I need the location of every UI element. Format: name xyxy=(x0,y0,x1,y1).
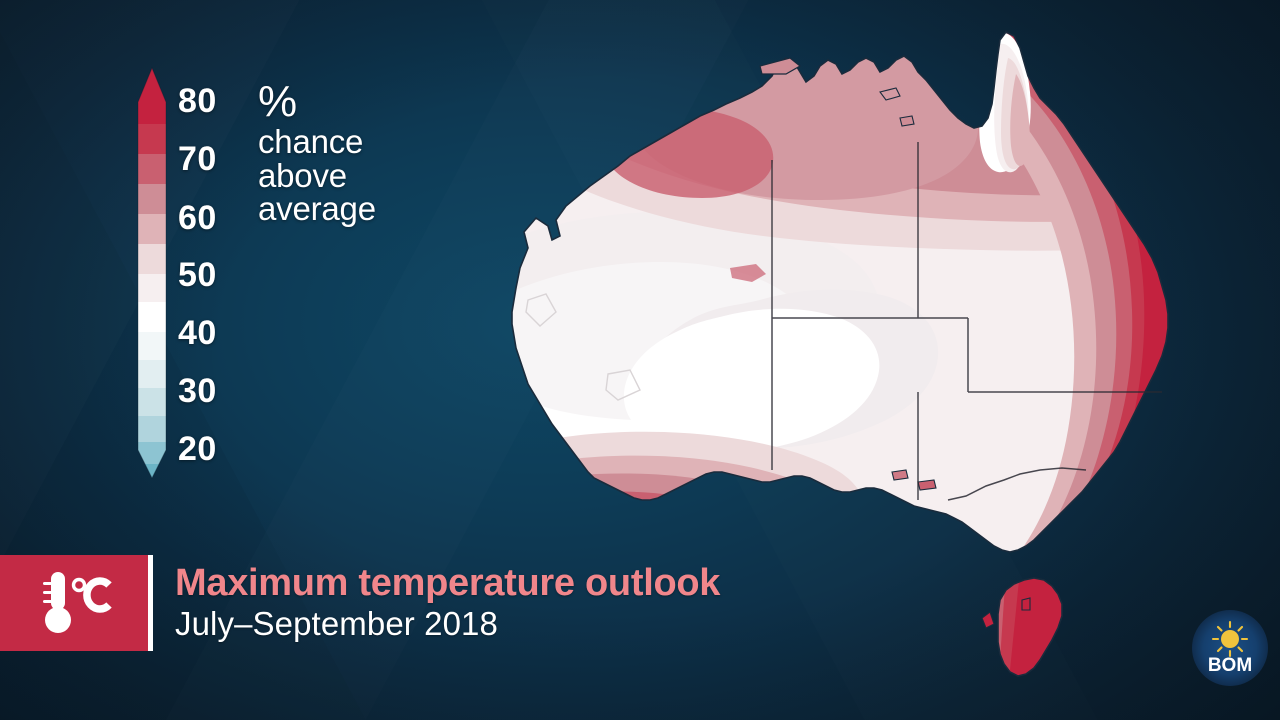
legend-caption-line-2: above xyxy=(258,159,448,193)
page-title: Maximum temperature outlook xyxy=(175,563,720,603)
sun-icon xyxy=(1213,622,1247,656)
title-block: Maximum temperature outlook July–Septemb… xyxy=(0,555,720,651)
legend-caption-line-1: chance xyxy=(258,125,448,159)
mainland-contours xyxy=(462,30,1200,590)
legend-caption: % chance above average xyxy=(258,80,448,226)
legend-caption-line-3: average xyxy=(258,192,448,226)
legend-percent-symbol: % xyxy=(258,80,448,125)
tasmania-contours xyxy=(980,570,1090,690)
thermometer-badge xyxy=(0,555,148,651)
page-subtitle: July–September 2018 xyxy=(175,606,720,643)
thermometer-celsius-icon xyxy=(31,568,117,638)
legend: 80 70 60 50 40 30 20 % chance above aver… xyxy=(130,62,430,482)
bom-logo[interactable]: BOM xyxy=(1190,608,1270,688)
legend-colour-bar xyxy=(130,62,174,482)
legend-tick-40: 40 xyxy=(178,316,273,350)
bom-logo-text: BOM xyxy=(1208,655,1252,676)
bom-logo-svg[interactable]: BOM xyxy=(1190,608,1270,688)
legend-tick-50: 50 xyxy=(178,258,273,292)
title-text-group: Maximum temperature outlook July–Septemb… xyxy=(153,555,720,651)
legend-tick-20: 20 xyxy=(178,432,273,466)
legend-colour-bands xyxy=(130,62,174,482)
legend-tick-30: 30 xyxy=(178,374,273,408)
